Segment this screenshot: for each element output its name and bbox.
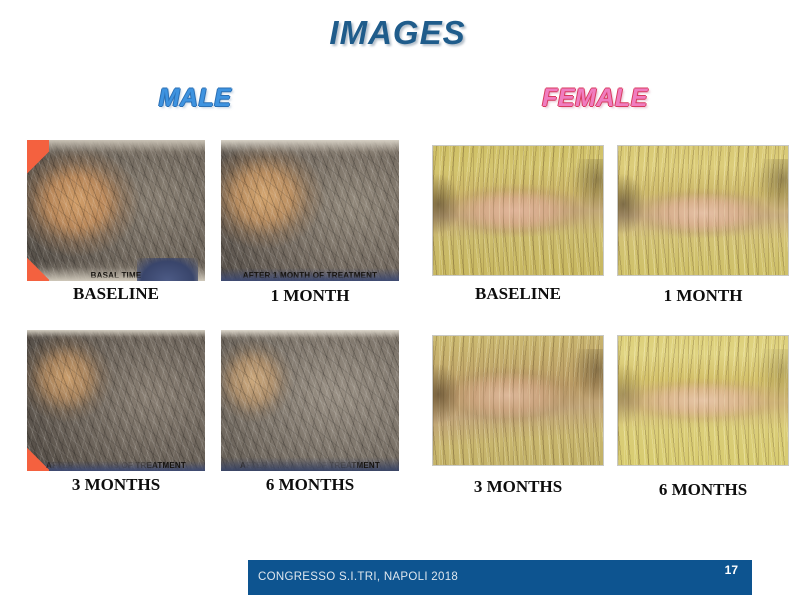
hair-texture-layer-2 xyxy=(221,140,399,281)
dark-hair-shadow-right xyxy=(757,159,788,211)
photo-burned-in-caption: BASAL TIME xyxy=(27,271,205,280)
photo-female-3-months[interactable] xyxy=(432,335,604,466)
dark-hair-shadow-left xyxy=(433,364,460,423)
caption-female-3-months: 3 MONTHS xyxy=(432,477,604,497)
caption-female-baseline: BASELINE xyxy=(432,284,604,304)
photo-frame xyxy=(432,145,604,276)
footer-text: CONGRESSO S.I.TRI, NAPOLI 2018 xyxy=(258,571,458,583)
page-number: 17 xyxy=(725,563,738,577)
photo-top-band xyxy=(221,330,399,341)
caption-female-1-month: 1 MONTH xyxy=(617,286,789,306)
photo-top-band xyxy=(27,330,205,340)
caption-male-3-months: 3 MONTHS xyxy=(27,475,205,495)
photo-female-baseline[interactable] xyxy=(432,145,604,276)
dark-hair-shadow-left xyxy=(433,174,460,233)
photo-male-baseline[interactable]: BASAL TIME xyxy=(27,140,205,281)
footer-bar: CONGRESSO S.I.TRI, NAPOLI 2018 17 xyxy=(248,560,752,595)
photo-male-6-months[interactable]: AFTER 6 MONTHS OF TREATMENT xyxy=(221,330,399,471)
section-heading-female: FEMALE xyxy=(515,84,675,113)
photo-frame xyxy=(617,145,789,276)
caption-female-6-months: 6 MONTHS xyxy=(617,480,789,500)
photo-male-1-month[interactable]: AFTER 1 MONTH OF TREATMENT xyxy=(221,140,399,281)
photo-burned-in-caption: AFTER 6 MONTHS OF TREATMENT xyxy=(221,461,399,470)
dark-hair-shadow-left xyxy=(618,174,645,233)
caption-male-1-month: 1 MONTH xyxy=(221,286,399,306)
photo-female-6-months[interactable] xyxy=(617,335,789,466)
caption-male-baseline: BASELINE xyxy=(27,284,205,304)
page-title: IMAGES xyxy=(0,14,795,52)
caption-male-6-months: 6 MONTHS xyxy=(221,475,399,495)
section-heading-male: MALE xyxy=(120,84,270,113)
photo-male-3-months[interactable]: AFTER 3 MONTHS OF TREATMENT xyxy=(27,330,205,471)
photo-frame xyxy=(432,335,604,466)
photo-frame: AFTER 6 MONTHS OF TREATMENT xyxy=(221,330,399,471)
dark-hair-shadow-right xyxy=(572,159,603,211)
photo-frame: BASAL TIME xyxy=(27,140,205,281)
photo-frame: AFTER 3 MONTHS OF TREATMENT xyxy=(27,330,205,471)
hair-texture-layer-2 xyxy=(27,330,205,471)
photo-female-1-month[interactable] xyxy=(617,145,789,276)
orange-corner-marker xyxy=(27,140,49,182)
dark-hair-shadow-right xyxy=(757,349,788,401)
hair-texture-layer-2 xyxy=(221,330,399,471)
dark-hair-shadow-right xyxy=(572,349,603,401)
photo-burned-in-caption: AFTER 3 MONTHS OF TREATMENT xyxy=(27,461,205,470)
photo-top-band xyxy=(27,140,205,157)
dark-hair-shadow-left xyxy=(618,364,645,423)
photo-burned-in-caption: AFTER 1 MONTH OF TREATMENT xyxy=(221,271,399,280)
photo-top-band xyxy=(221,140,399,157)
photo-frame: AFTER 1 MONTH OF TREATMENT xyxy=(221,140,399,281)
photo-frame xyxy=(617,335,789,466)
